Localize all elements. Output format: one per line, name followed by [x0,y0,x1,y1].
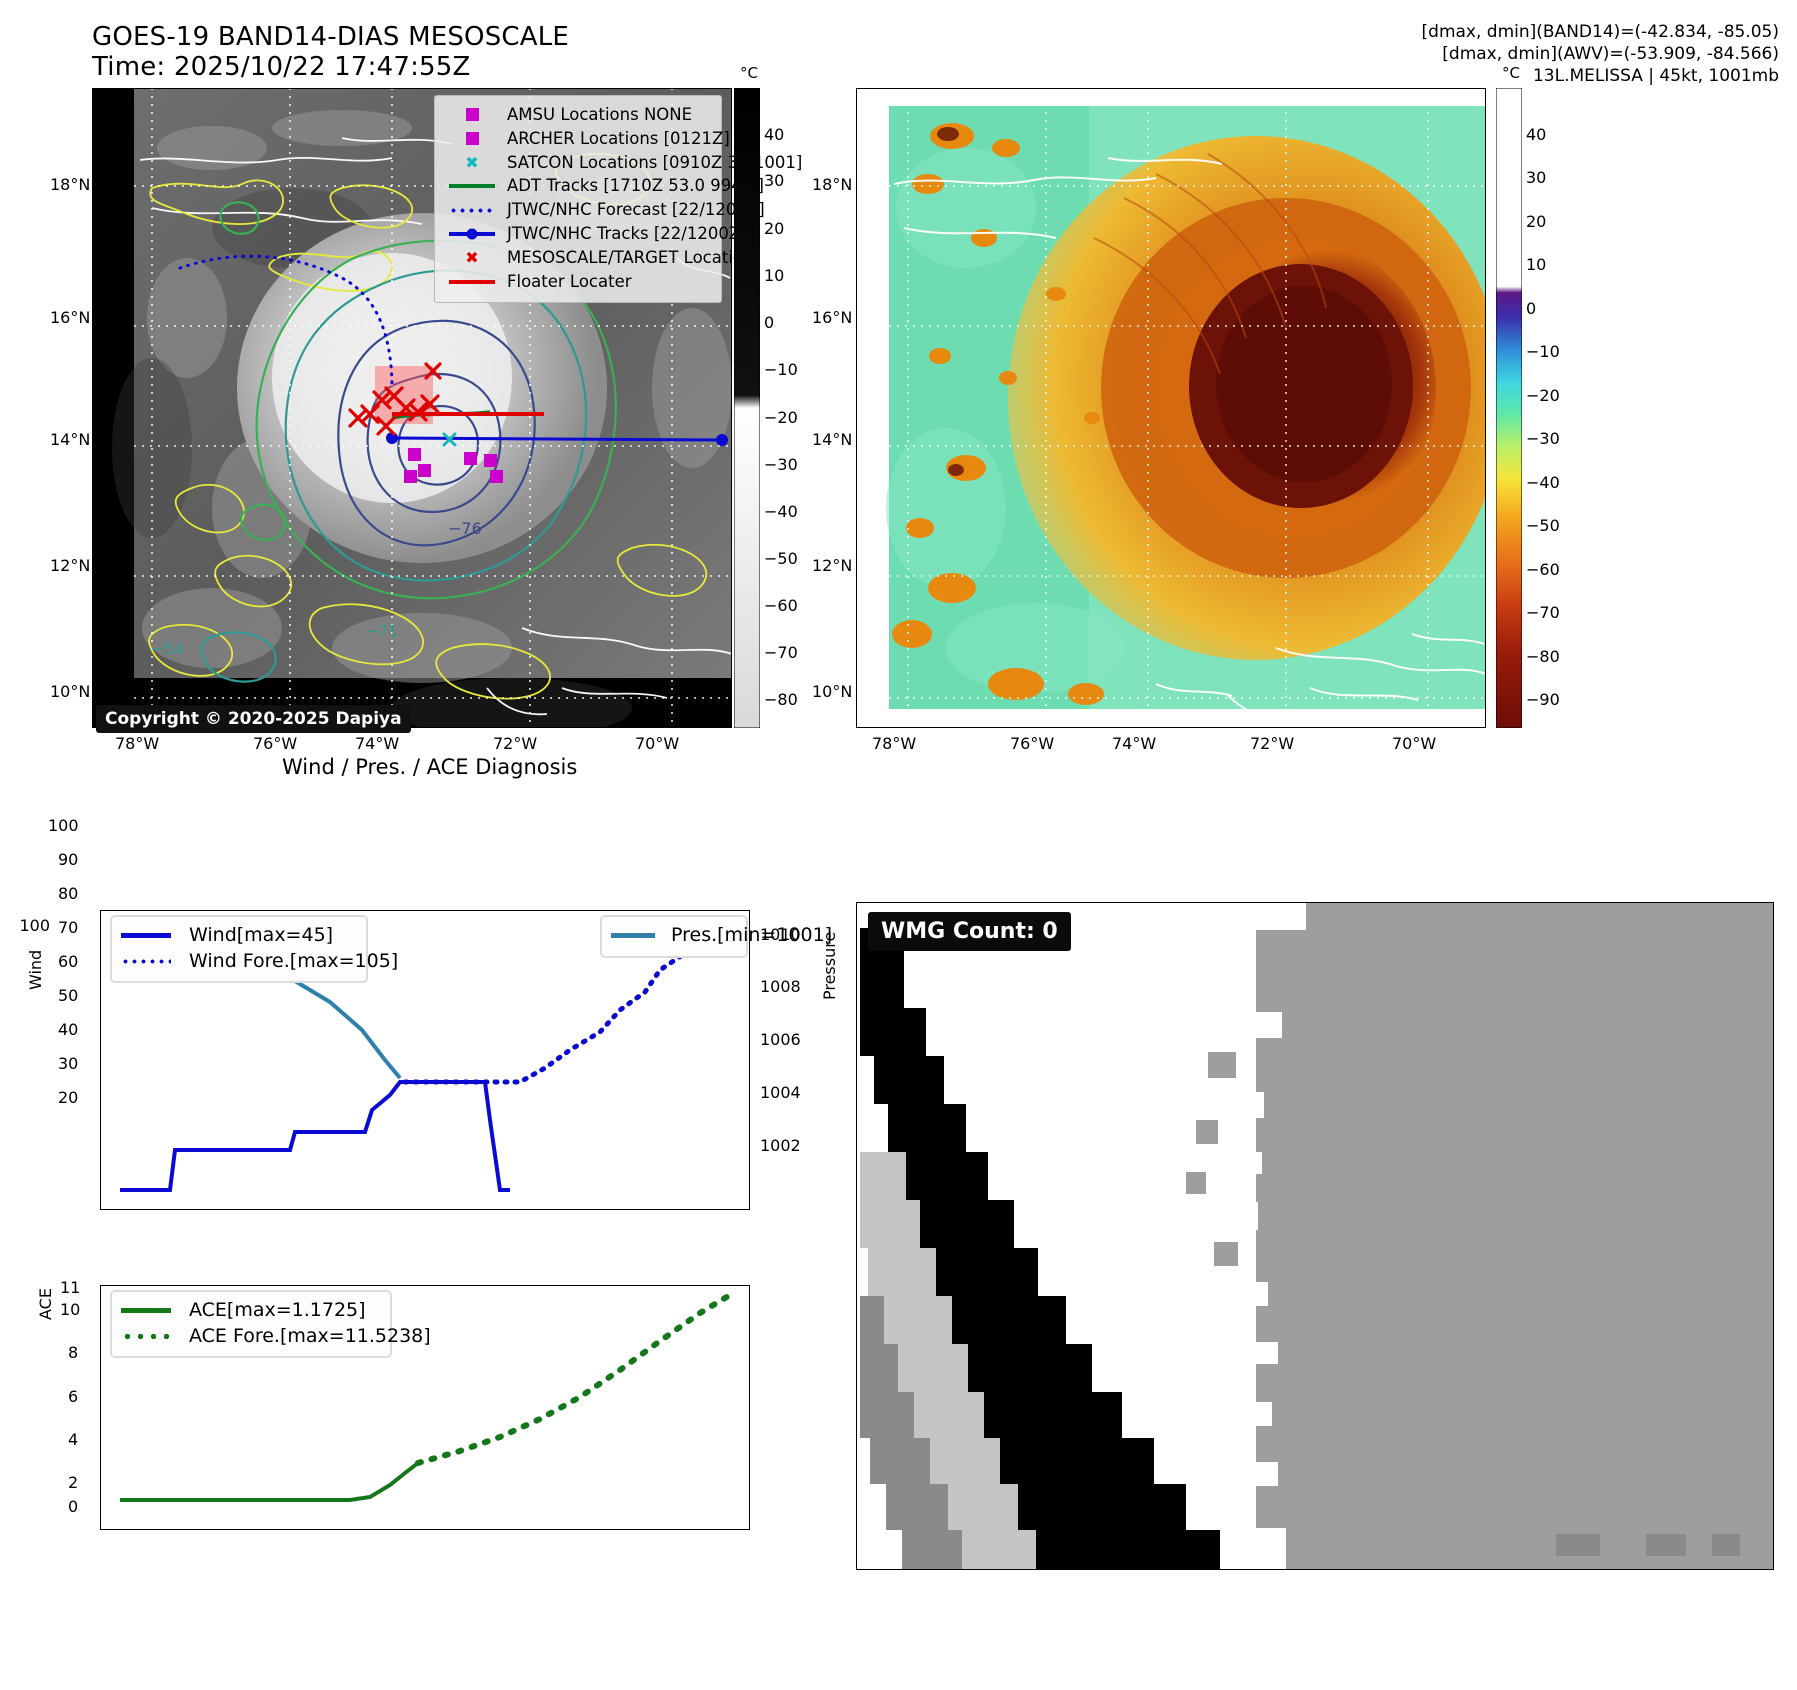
awv-lat-tick: 16°N [812,308,852,327]
green-line-icon [445,184,499,188]
cbar-tick: −80 [764,690,798,709]
cbar-tick: −50 [764,549,798,568]
awv-lon-tick: 78°W [872,734,916,753]
awv-lon-tick: 76°W [1010,734,1054,753]
ir-lon-tick: 76°W [253,734,297,753]
dmax-awv-text: [dmax, dmin](AWV)=(-53.909, -84.566) [1442,42,1779,67]
cbar-tick: −70 [1526,603,1560,622]
legend-item-ace-forecast: ACE Fore.[max=11.5238] [121,1324,377,1350]
ir-legend: AMSU Locations NONE ARCHER Locations [01… [434,95,722,303]
awv-lat-tick: 14°N [812,430,852,449]
cbar-tick: −70 [764,643,798,662]
magenta-square-icon [445,132,499,145]
awv-lon-tick: 72°W [1250,734,1294,753]
wind-ytick: 20 [58,1088,78,1107]
svg-text:−54: −54 [150,639,184,658]
ace-ylabel: ACE [36,1288,55,1320]
page-subtitle: Time: 2025/10/22 17:47:55Z [92,52,471,82]
ir-lon-tick: 70°W [635,734,679,753]
ir-lat-tick: 14°N [50,430,90,449]
legend-item-pressure: Pres.[min=1001] [611,923,733,949]
awv-lat-tick: 12°N [812,556,852,575]
cbar-tick: 30 [1526,168,1546,187]
cbar-tick: −10 [1526,342,1560,361]
blue-marker-line-icon [445,232,499,236]
cbar-tick: 10 [1526,255,1546,274]
cyan-x-icon: ✖ [445,155,499,171]
cbar-tick: −30 [764,455,798,474]
legend-item-wind: Wind[max=45] [121,923,353,949]
cbar-tick: 40 [764,125,784,144]
ir-lon-tick: 74°W [355,734,399,753]
pressure-ytick: 1006 [760,1030,801,1049]
cbar-tick: −30 [1526,429,1560,448]
wmg-count-badge: WMG Count: 0 [868,912,1071,951]
legend-item-archer: ARCHER Locations [0121Z] [445,127,709,151]
wmg-image [856,902,1774,1570]
legend-item-tracks: JTWC/NHC Tracks [22/1200Z] [445,222,709,246]
awv-lat-tick: 18°N [812,175,852,194]
blue-line-icon [121,933,179,938]
cbar-tick: −10 [764,360,798,379]
wind-ytick: 80 [58,884,78,903]
awv-image [856,88,1486,728]
legend-item-forecast: JTWC/NHC Forecast [22/1200Z] [445,198,709,222]
pressure-ytick: 1002 [760,1136,801,1155]
wind-ytick: 40 [58,1020,78,1039]
ir-colorbar-title: °C [740,64,758,82]
magenta-square-icon [445,108,499,121]
awv-lon-tick: 70°W [1392,734,1436,753]
page-title: GOES-19 BAND14-DIAS MESOSCALE [92,22,569,52]
ir-lat-tick: 12°N [50,556,90,575]
awv-lon-tick: 74°W [1112,734,1156,753]
green-dotted-line-icon [121,1333,179,1340]
blue-dotted-line-icon [121,959,179,964]
ir-lon-tick: 78°W [115,734,159,753]
pressure-ytick: 1008 [760,977,801,996]
ace-ytick: 6 [68,1387,78,1406]
cbar-tick: 30 [764,171,784,190]
blue-dotted-line-icon [445,208,499,213]
legend-item-ace: ACE[max=1.1725] [121,1298,377,1324]
awv-colorbar-title: °C [1502,64,1520,82]
ace-ytick: 10 [60,1300,80,1319]
red-x-icon: ✖ [445,250,499,266]
legend-item-amsu: AMSU Locations NONE [445,103,709,127]
legend-item-satcon: ✖ SATCON Locations [0910Z 38 1001] [445,151,709,175]
legend-item-floater: Floater Locater [445,270,709,294]
pressure-ytick: 1004 [760,1083,801,1102]
wind-ytick: 100 [48,816,79,835]
wind-ytick: 90 [58,850,78,869]
copyright-badge: Copyright © 2020-2025 Dapiya [96,705,411,733]
ytick: 100 [19,916,50,935]
ir-colorbar [734,88,760,728]
cbar-tick: −40 [764,502,798,521]
wind-ytick: 50 [58,986,78,1005]
awv-panel [856,88,1486,728]
legend-item-mesoscale: ✖ MESOSCALE/TARGET Location [445,246,709,270]
cbar-tick: −50 [1526,516,1560,535]
ir-lat-tick: 10°N [50,682,90,701]
diagnosis-title: Wind / Pres. / ACE Diagnosis [282,755,577,779]
storm-summary-text: 13L.MELISSA | 45kt, 1001mb [1533,64,1779,89]
ir-lon-tick: 72°W [493,734,537,753]
cbar-tick: −80 [1526,647,1560,666]
cbar-tick: 0 [1526,299,1536,318]
cbar-tick: −60 [764,596,798,615]
wind-ytick: 70 [58,918,78,937]
green-line-icon [121,1308,179,1313]
cbar-tick: −90 [1526,690,1560,709]
ace-ytick: 0 [68,1497,78,1516]
legend-item-adt: ADT Tracks [1710Z 53.0 994.3] [445,174,709,198]
red-line-icon [445,280,499,284]
cbar-tick: −40 [1526,473,1560,492]
ace-ytick: 8 [68,1343,78,1362]
awv-colorbar [1496,88,1522,728]
ace-ytick: 4 [68,1430,78,1449]
teal-line-icon [611,933,661,938]
cbar-tick: 20 [1526,212,1546,231]
ace-ytick: 2 [68,1473,78,1492]
wind-ylabel: Wind [26,950,45,990]
cbar-tick: 0 [764,313,774,332]
ace-ytick: 11 [60,1278,80,1297]
wind-ytick: 60 [58,952,78,971]
wmg-panel [856,902,1774,1570]
cbar-tick: 20 [764,219,784,238]
wind-legend-right: Pres.[min=1001] [600,915,748,958]
ace-legend: ACE[max=1.1725] ACE Fore.[max=11.5238] [110,1290,392,1358]
svg-text:−71: −71 [366,622,398,640]
cbar-tick: −20 [1526,386,1560,405]
cbar-tick: −60 [1526,560,1560,579]
svg-text:−76: −76 [448,519,482,538]
awv-lat-tick: 10°N [812,682,852,701]
wind-ytick: 30 [58,1054,78,1073]
wind-legend-left: Wind[max=45] Wind Fore.[max=105] [110,915,368,983]
cbar-tick: −20 [764,408,798,427]
legend-item-wind-forecast: Wind Fore.[max=105] [121,949,353,975]
dmax-band14-text: [dmax, dmin](BAND14)=(-42.834, -85.05) [1422,20,1779,45]
ir-lat-tick: 18°N [50,175,90,194]
ir-lat-tick: 16°N [50,308,90,327]
cbar-tick: 40 [1526,125,1546,144]
cbar-tick: 10 [764,266,784,285]
